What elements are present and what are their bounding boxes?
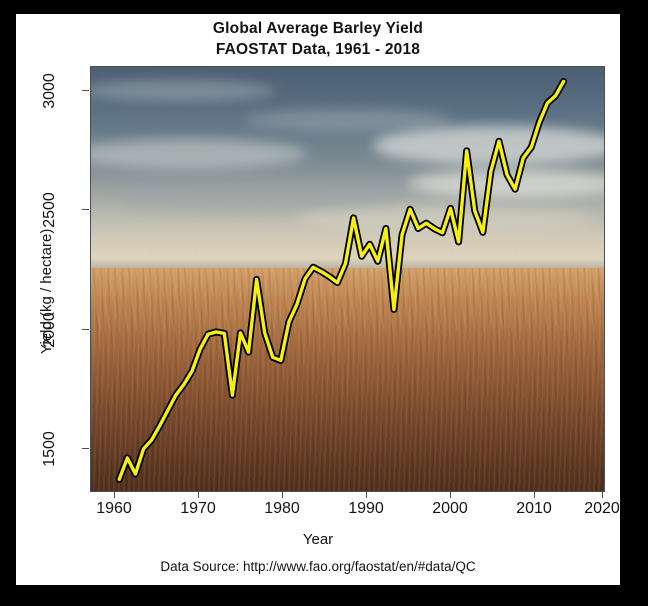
x-tick-mark (366, 491, 367, 498)
x-tick-mark (114, 491, 115, 498)
y-tick-mark (82, 448, 89, 449)
x-tick-label-2020: 2020 (572, 500, 632, 518)
cloud-band (90, 80, 276, 101)
x-tick-label-1990: 1990 (336, 500, 396, 518)
chart-title-line-2: FAOSTAT Data, 1961 - 2018 (16, 39, 620, 60)
x-tick-mark (198, 491, 199, 498)
cloud-band (245, 109, 450, 130)
background-photo-barley-field (91, 67, 604, 491)
x-tick-label-1980: 1980 (252, 500, 312, 518)
x-tick-mark (450, 491, 451, 498)
x-tick-mark (602, 491, 603, 498)
y-tick-mark (82, 90, 89, 91)
chart-title-block: Global Average Barley Yield FAOSTAT Data… (16, 14, 620, 60)
x-tick-label-2010: 2010 (504, 500, 564, 518)
x-tick-label-1970: 1970 (168, 500, 228, 518)
y-tick-label-1500: 1500 (41, 419, 59, 479)
x-tick-label-2000: 2000 (420, 500, 480, 518)
x-axis-title: Year (16, 531, 620, 548)
screenshot-frame: Global Average Barley Yield FAOSTAT Data… (0, 0, 648, 606)
cloud-band (373, 126, 605, 164)
barley-awn-texture (91, 237, 604, 330)
cloud-band (90, 139, 306, 169)
y-tick-mark (82, 329, 89, 330)
chart-title-line-1: Global Average Barley Yield (16, 14, 620, 39)
data-source-caption: Data Source: http://www.fao.org/faostat/… (16, 559, 620, 574)
x-tick-label-1960: 1960 (84, 500, 144, 518)
plot-canvas: Global Average Barley Yield FAOSTAT Data… (16, 14, 620, 585)
y-axis-title: Yield (kg / hectare) (38, 229, 55, 354)
y-tick-mark (82, 209, 89, 210)
x-tick-mark (282, 491, 283, 498)
y-tick-label-3000: 3000 (41, 61, 59, 121)
cloud-band (117, 186, 399, 211)
x-tick-mark (534, 491, 535, 498)
plot-area (90, 66, 605, 492)
